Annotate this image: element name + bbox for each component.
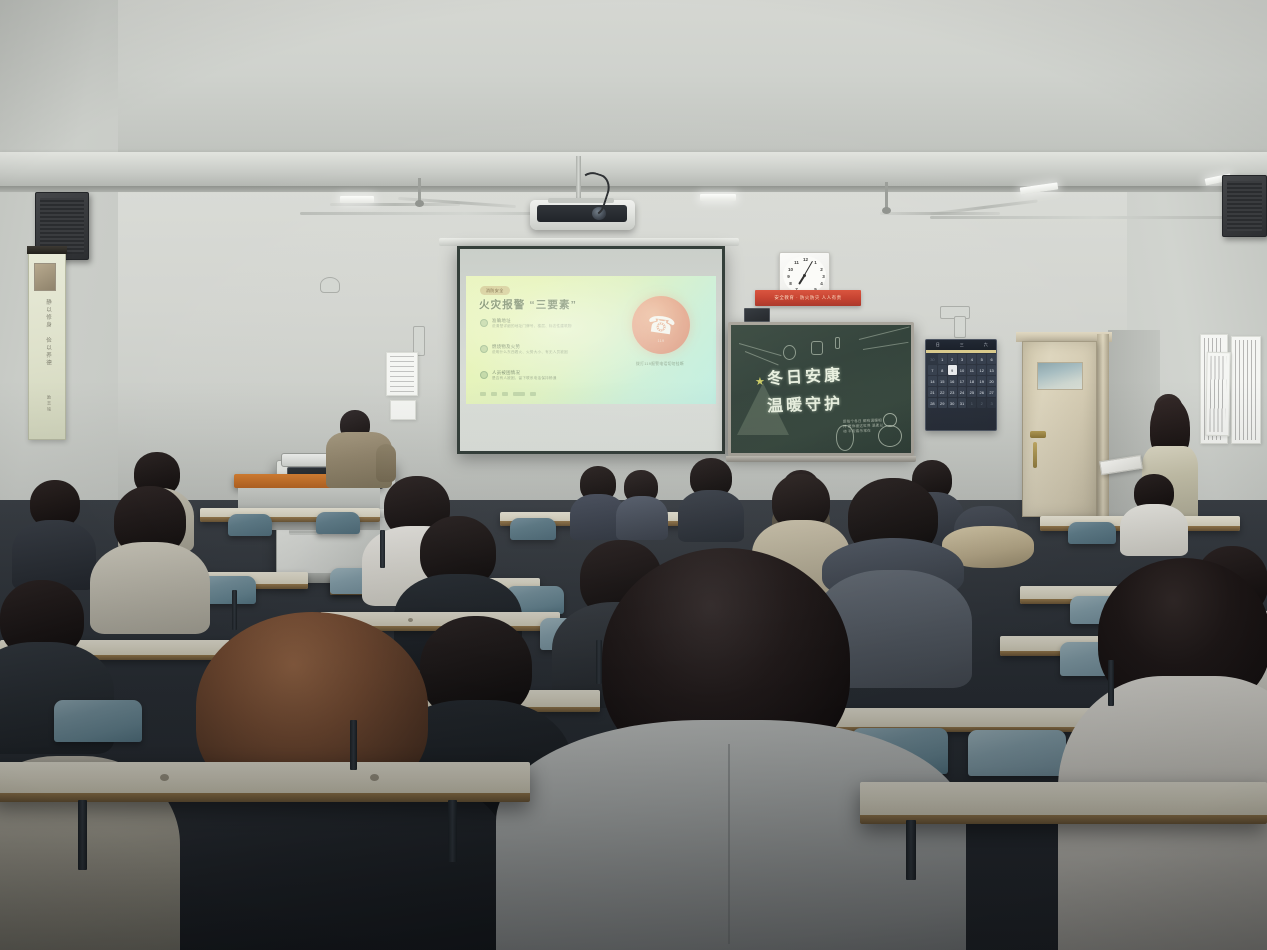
calendar-col-label: 六 [984,342,989,348]
notice-text-lines [1235,340,1257,440]
classroom-door[interactable] [1022,341,1097,517]
calendar-grid: 30 1 2 3 4 5 6 7 8 9 10 11 12 13 14 15 1… [928,354,996,408]
chalk-branch [739,343,782,356]
ceiling-light [340,196,374,203]
penguin-icon [836,425,854,451]
foreground-desk-left [0,762,530,802]
bullet-detail: 说清楚详细的地址门牌号、楼层、标志性建筑物 [492,324,572,329]
desk-edge [860,815,1267,824]
classroom-chair[interactable] [968,730,1066,776]
calendar-day[interactable]: 2 [977,398,986,408]
calendar-day[interactable]: 16 [948,376,957,386]
slide-tag: 消防安全 [480,286,510,295]
classroom-chair[interactable] [228,514,272,536]
calendar-day[interactable]: 14 [928,376,937,386]
calendar-day[interactable]: 28 [928,398,937,408]
ceiling-light [700,194,736,201]
scroll-signature: 励志铭 [46,395,52,413]
foreground-desk-right [860,782,1267,824]
calendar-day[interactable]: 6 [987,354,996,364]
slide-title: 火灾报警 “三要素” [479,297,577,312]
person-torso [616,496,668,540]
safety-banner: 安全教育 · 防火防灾 人人有责 [755,290,861,306]
calendar-day-today[interactable]: 9 [948,365,957,375]
slide-footer-marks [480,392,536,396]
desk-leg [596,640,602,684]
blackboard: ★ 冬日安康 温暖守护 愿每个冬日 都有温暖相伴 愿你被这世界 温柔以待 平安喜… [728,322,914,456]
slide-caption: 拨打119报警电话切勿挂断 [626,362,694,367]
hoodie-seam [728,744,730,944]
scroll-rod-top [27,246,67,254]
calendar-day[interactable]: 25 [967,387,976,397]
clock-number: 10 [787,268,794,273]
door-window [1037,362,1083,390]
calendar-accent-bar [926,350,997,353]
calendar-day[interactable]: 30 [948,398,957,408]
bullet-detail: 是否有人被困、留下联系电话保持畅通 [492,376,557,381]
ornament-icon [835,337,840,349]
snowman-icon [877,413,903,447]
classroom-chair[interactable] [1068,522,1116,544]
fan-hub [415,200,424,207]
emergency-call-badge: ☎ 119 [632,296,690,354]
calendar-day[interactable]: 5 [977,354,986,364]
calendar-col-label: 日 [936,342,941,348]
person-at-podium [324,410,402,488]
ornament-icon [783,345,796,360]
projector-icon [530,192,635,230]
desk-grommet [408,618,413,622]
desk-leg [380,530,385,568]
fan-hub [882,207,891,214]
clock-number: 9 [785,275,792,280]
door-jamb [1097,334,1109,519]
clock-minute-hand [804,261,813,276]
desk-leg [350,720,357,770]
desk-leg [448,800,457,862]
calendar-day[interactable]: 2 [948,354,957,364]
classroom-chair[interactable] [316,512,360,534]
snowman-body [878,425,902,447]
calendar-day[interactable]: 11 [967,365,976,375]
clock-number: 2 [818,268,825,273]
calendar-header: 日 三 六 [926,340,997,350]
person-torso [12,520,96,590]
wall-scroll: 静以修身 俭以养德 励志铭 [28,248,66,440]
calendar-day[interactable]: 3 [987,398,996,408]
phone-icon: ☎ [645,312,677,339]
chalk-tray [726,456,916,462]
desk-leg [78,800,87,870]
fan-rod [885,182,888,210]
classroom-chair[interactable] [510,518,556,540]
wall-notice [1231,336,1261,444]
door-lock-bar[interactable] [1033,442,1037,468]
banner-text: 安全教育 · 防火防灾 人人有责 [774,295,841,301]
calendar-day[interactable]: 31 [958,398,967,408]
wall-bracket [320,277,340,293]
ceiling-fan-icon [330,203,460,206]
calendar-day[interactable]: 1 [938,354,947,364]
person-torso [678,490,744,542]
blackboard-line-1: 冬日安康 [766,361,843,389]
calendar-day[interactable]: 30 [928,354,937,364]
calendar-day[interactable]: 20 [987,376,996,386]
chalk-branch [859,326,910,340]
notice-text-lines [1209,356,1226,432]
footer-mark [513,392,525,396]
calendar-day[interactable]: 29 [938,398,947,408]
classroom-chair[interactable] [54,700,142,742]
bullet-detail: 说明什么东西着火、火势大小、有无人员被困 [492,350,568,355]
calendar-day[interactable]: 22 [938,387,947,397]
calendar-day[interactable]: 3 [958,354,967,364]
desk-leg [232,590,237,630]
person-torso [90,542,210,634]
clock-number: 4 [818,282,825,287]
desk-grommet [160,774,169,781]
clock-number: 8 [787,282,794,287]
clock-face: 12 1 2 3 4 5 6 7 8 9 10 11 [783,256,826,294]
calendar-col-label: 三 [960,342,965,348]
notice-text-lines [390,356,414,392]
desk-leg [906,820,916,880]
calendar-day[interactable]: 17 [958,376,967,386]
classroom-scene: 消防安全 火灾报警 “三要素” 准确地址 说清楚详细的地址门牌号、楼层、标志性建… [0,0,1267,950]
presentation-slide: 消防安全 火灾报警 “三要素” 准确地址 说清楚详细的地址门牌号、楼层、标志性建… [466,276,716,404]
calendar-day[interactable]: 27 [987,387,996,397]
projection-screen: 消防安全 火灾报警 “三要素” 准确地址 说清楚详细的地址门牌号、楼层、标志性建… [457,246,725,458]
calendar-day[interactable]: 26 [977,387,986,397]
scroll-text: 静以修身 俭以养德 [44,299,52,367]
ceiling-beam [0,152,1267,186]
wall-notice [386,352,418,396]
screen-roller [439,238,739,246]
calendar-day[interactable]: 18 [967,376,976,386]
calendar-day[interactable]: 4 [967,354,976,364]
desk-leg [1108,660,1114,706]
ceiling-conduit [930,216,1260,219]
desk-grommet [370,774,379,781]
ornament-icon [811,341,823,355]
chalk-branch [863,342,909,351]
speaker-grille [1227,181,1262,231]
calendar-day[interactable]: 7 [928,365,937,375]
calendar-day[interactable]: 12 [977,365,986,375]
footer-mark [480,392,486,396]
calendar-day[interactable]: 21 [928,387,937,397]
blackboard-line-2: 温暖守护 [767,390,844,417]
clock-number: 11 [793,261,800,266]
person-arm [376,444,396,482]
call-number: 119 [632,339,690,343]
wall-calendar: 日 三 六 30 1 2 3 4 5 6 7 8 9 10 11 12 13 1… [925,339,997,431]
footer-mark [530,392,536,396]
bullet-marker-icon [480,319,488,327]
scroll-portrait [34,263,56,291]
bullet-marker-icon [480,345,488,353]
door-handle[interactable] [1030,431,1046,438]
footer-mark [502,392,508,396]
star-icon: ★ [755,375,765,388]
projector-bracket [954,316,966,338]
screen-frame: 消防安全 火灾报警 “三要素” 准确地址 说清楚详细的地址门牌号、楼层、标志性建… [457,246,725,454]
calendar-day[interactable]: 8 [938,365,947,375]
bullet-marker-icon [480,371,488,379]
calendar-day[interactable]: 15 [938,376,947,386]
clock-number: 3 [820,275,827,280]
wall-sign [744,308,770,322]
calendar-day[interactable]: 1 [967,398,976,408]
calendar-day[interactable]: 13 [987,365,996,375]
speaker-icon [1222,175,1267,237]
calendar-day[interactable]: 10 [958,365,967,375]
calendar-day[interactable]: 24 [958,387,967,397]
footer-mark [491,392,497,396]
calendar-day[interactable]: 23 [948,387,957,397]
clock-center-pin [803,274,806,277]
clock-number: 12 [802,258,809,263]
calendar-day[interactable]: 19 [977,376,986,386]
hoodie-shoulders [496,720,966,950]
person-torso [1120,504,1188,556]
clock-number: 1 [812,261,819,266]
